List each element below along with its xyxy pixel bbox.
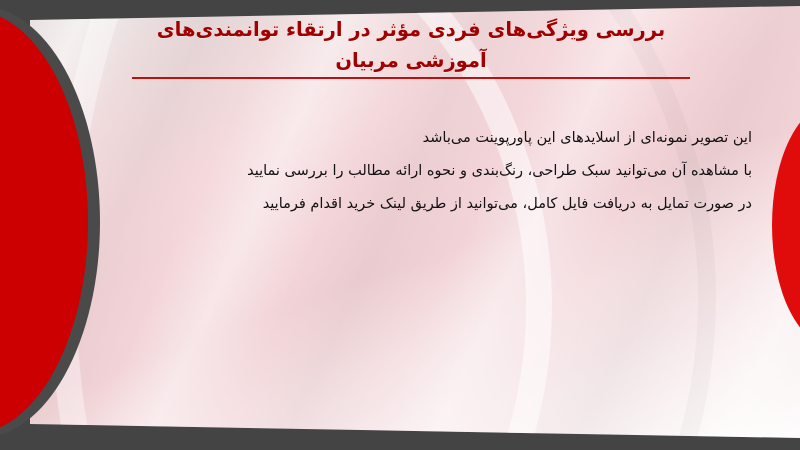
slide-body-line-3: در صورت تمایل به دریافت فایل کامل، می‌تو…: [112, 188, 752, 221]
slide-body-text: این تصویر نمونه‌ای از اسلایدهای این پاور…: [112, 122, 752, 221]
slide-title-line-1: بررسی ویژگی‌های فردی مؤثر در ارتقاء توان…: [130, 14, 692, 45]
slide-title-line-2: آموزشی مربیان: [130, 45, 692, 76]
slide-body-line-2: با مشاهده آن می‌توانید سبک طراحی، رنگ‌بن…: [112, 155, 752, 188]
slide-title: بررسی ویژگی‌های فردی مؤثر در ارتقاء توان…: [130, 14, 692, 76]
slide-body-line-1: این تصویر نمونه‌ای از اسلایدهای این پاور…: [112, 122, 752, 155]
title-underline-rule: [132, 77, 690, 79]
presentation-slide: بررسی ویژگی‌های فردی مؤثر در ارتقاء توان…: [0, 0, 800, 450]
